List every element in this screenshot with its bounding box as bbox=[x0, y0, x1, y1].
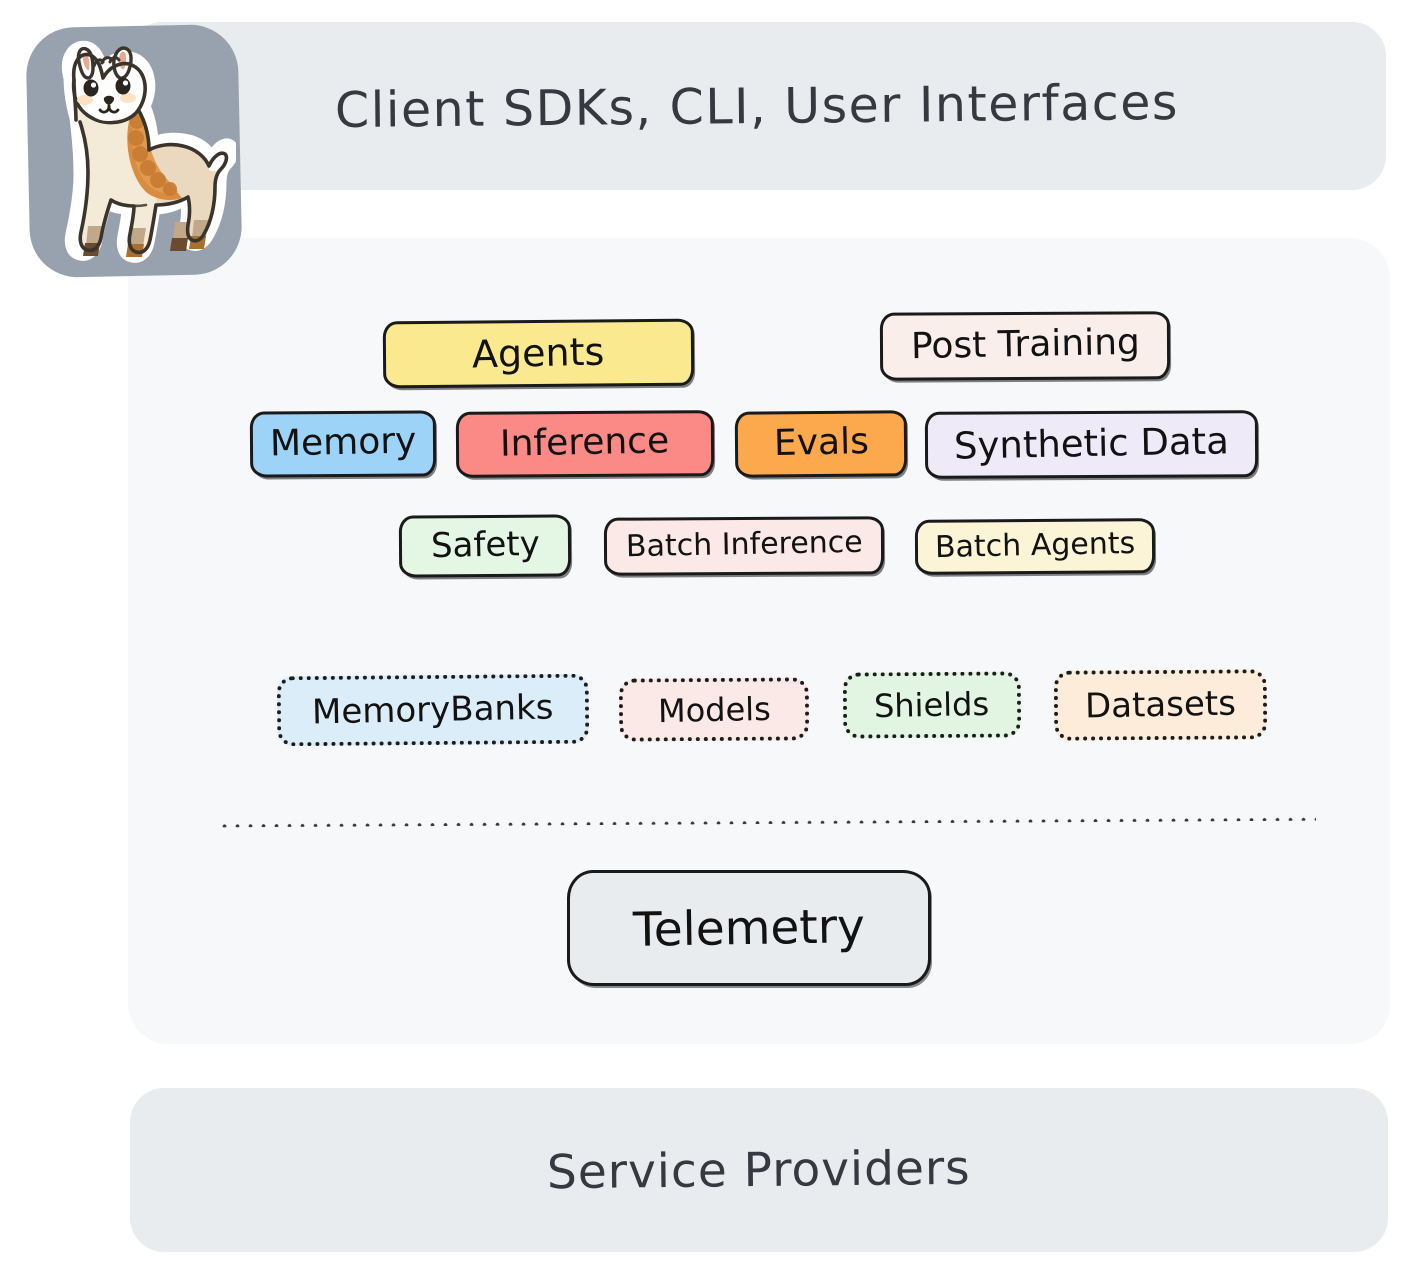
resource-box-datasets[interactable]: Datasets bbox=[1054, 669, 1267, 740]
api-box-post-training[interactable]: Post Training bbox=[880, 311, 1170, 381]
client-interfaces-label: Client SDKs, CLI, User Interfaces bbox=[335, 73, 1179, 138]
api-box-memory[interactable]: Memory bbox=[250, 410, 436, 477]
api-box-batch-agents-label: Batch Agents bbox=[935, 528, 1136, 564]
api-box-safety-label: Safety bbox=[430, 527, 539, 565]
client-interfaces-bar: Client SDKs, CLI, User Interfaces bbox=[128, 22, 1386, 190]
api-box-inference[interactable]: Inference bbox=[456, 410, 714, 478]
api-box-batch-inference[interactable]: Batch Inference bbox=[604, 516, 884, 575]
api-box-agents[interactable]: Agents bbox=[383, 319, 695, 389]
resource-box-datasets-label: Datasets bbox=[1085, 687, 1236, 724]
resource-box-memorybanks-label: MemoryBanks bbox=[312, 690, 554, 729]
api-box-batch-agents[interactable]: Batch Agents bbox=[915, 518, 1155, 575]
resource-box-models-label: Models bbox=[657, 692, 770, 726]
api-box-evals-label: Evals bbox=[773, 424, 869, 464]
api-box-post-training-label: Post Training bbox=[910, 325, 1140, 367]
resource-box-models[interactable]: Models bbox=[619, 677, 809, 741]
resource-box-shields[interactable]: Shields bbox=[843, 671, 1021, 738]
service-providers-label: Service Providers bbox=[547, 1144, 971, 1195]
diagram-canvas: Client SDKs, CLI, User Interfaces bbox=[0, 0, 1410, 1268]
api-box-agents-label: Agents bbox=[472, 332, 605, 375]
api-box-memory-label: Memory bbox=[269, 423, 416, 464]
resource-box-memorybanks[interactable]: MemoryBanks bbox=[277, 674, 590, 747]
api-box-evals[interactable]: Evals bbox=[735, 410, 908, 477]
telemetry-label: Telemetry bbox=[633, 903, 866, 954]
api-box-batch-inference-label: Batch Inference bbox=[625, 528, 862, 565]
api-box-synthetic-data-label: Synthetic Data bbox=[954, 422, 1229, 466]
api-box-safety[interactable]: Safety bbox=[399, 514, 571, 577]
api-box-inference-label: Inference bbox=[500, 423, 670, 465]
service-providers-bar: Service Providers bbox=[130, 1088, 1388, 1252]
resource-box-shields-label: Shields bbox=[874, 688, 990, 722]
llama-logo-icon bbox=[36, 30, 236, 276]
api-box-synthetic-data[interactable]: Synthetic Data bbox=[925, 410, 1258, 479]
telemetry-box[interactable]: Telemetry bbox=[567, 870, 931, 986]
